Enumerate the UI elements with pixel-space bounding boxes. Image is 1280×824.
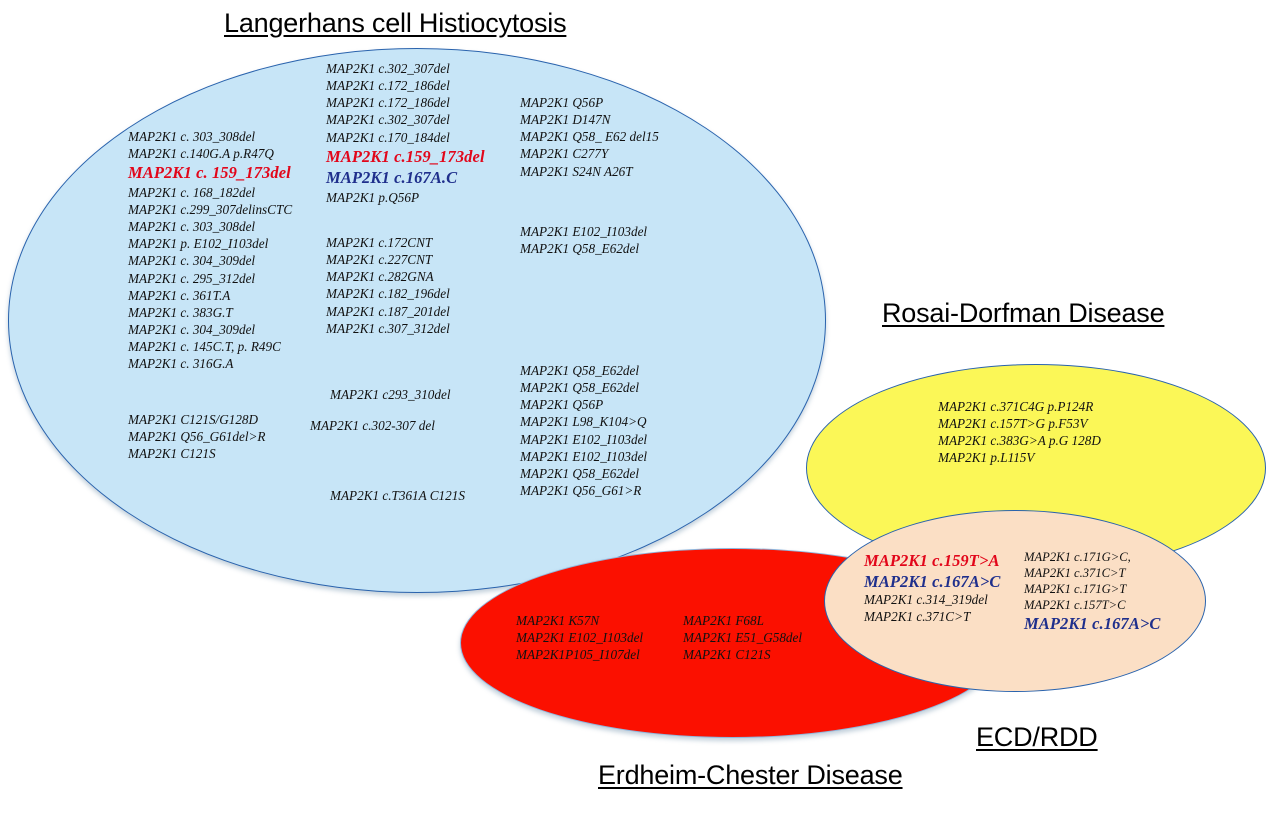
mutation-item: MAP2K1 K57N (516, 612, 643, 629)
mutation-item: MAP2K1 E102_I103del (520, 223, 647, 240)
mutation-item: MAP2K1 Q58_ E62 del15 (520, 128, 659, 145)
mutation-item: MAP2K1 p. E102_I103del (128, 235, 292, 252)
mutation-item: MAP2K1 Q58_E62del (520, 240, 647, 257)
mutation-item: MAP2K1 E102_I103del (520, 431, 647, 448)
mutation-item: MAP2K1 p.L115V (938, 449, 1101, 466)
mutation-item: MAP2K1 c.182_196del (326, 285, 450, 302)
mutation-item: MAP2K1 c.282GNA (326, 268, 450, 285)
mutation-item: MAP2K1 c. 295_312del (128, 270, 292, 287)
mutation-item: MAP2K1 c.157T>C (1024, 597, 1161, 613)
mutation-item: MAP2K1 C121S/G128D (128, 411, 265, 428)
mutation-item: MAP2K1 Q56_G61>R (520, 482, 647, 499)
mutation-item: MAP2K1 c.157T>G p.F53V (938, 415, 1101, 432)
mutation-item: MAP2K1 c.371C>T (1024, 565, 1161, 581)
mutation-item: MAP2K1 C121S (128, 445, 265, 462)
title-rosai-dorfman-disease: Rosai-Dorfman Disease (882, 298, 1164, 329)
mutation-item-highlight-blue: MAP2K1 c.167A.C (326, 167, 485, 188)
mutation-item: MAP2K1 c. 303_308del (128, 128, 292, 145)
mutation-item: MAP2K1 c.T361A C121S (330, 487, 465, 504)
mutation-item: MAP2K1 L98_K104>Q (520, 413, 647, 430)
mutation-item: MAP2K1 c.140G.A p.R47Q (128, 145, 292, 162)
mutation-item: MAP2K1 c. 168_182del (128, 184, 292, 201)
mutation-item: MAP2K1 E102_I103del (516, 629, 643, 646)
mutation-item: MAP2K1 S24N A26T (520, 163, 659, 180)
ecd-mutation-list-right: MAP2K1 F68L MAP2K1 E51_G58del MAP2K1 C12… (683, 612, 802, 663)
mutation-item: MAP2K1 E51_G58del (683, 629, 802, 646)
mutation-item: MAP2K1 c.172CNT (326, 234, 450, 251)
mutation-item: MAP2K1 c.170_184del (326, 129, 485, 146)
mutation-item: MAP2K1 Q58_E62del (520, 362, 647, 379)
mutation-item: MAP2K1 c.172_186del (326, 94, 485, 111)
lch-mutation-list-left-lower: MAP2K1 C121S/G128D MAP2K1 Q56_G61del>R M… (128, 411, 265, 462)
mutation-item: MAP2K1 c. 383G.T (128, 304, 292, 321)
mutation-item: MAP2K1 c. 304_309del (128, 321, 292, 338)
mutation-item: MAP2K1 c. 303_308del (128, 218, 292, 235)
rdd-mutation-list: MAP2K1 c.371C4G p.P124R MAP2K1 c.157T>G … (938, 398, 1101, 467)
overlap-mutation-list-right: MAP2K1 c.171G>C, MAP2K1 c.371C>T MAP2K1 … (1024, 549, 1161, 635)
title-erdheim-chester-disease: Erdheim-Chester Disease (598, 760, 903, 791)
mutation-item: MAP2K1 c.302_307del (326, 111, 485, 128)
lch-mutation-item-c302-307: MAP2K1 c.302-307 del (310, 417, 435, 434)
mutation-item: MAP2K1 c. 304_309del (128, 252, 292, 269)
mutation-item: MAP2K1 c.314_319del (864, 592, 1001, 609)
mutation-item: MAP2K1 c.299_307delinsCTC (128, 201, 292, 218)
mutation-item: MAP2K1 c. 316G.A (128, 355, 292, 372)
mutation-item: MAP2K1 c.307_312del (326, 320, 450, 337)
title-ecd-rdd: ECD/RDD (976, 722, 1098, 753)
lch-mutation-item-c293: MAP2K1 c293_310del (330, 386, 451, 403)
mutation-item: MAP2K1 Q58_E62del (520, 465, 647, 482)
mutation-item: MAP2K1 c.171G>T (1024, 581, 1161, 597)
mutation-item: MAP2K1 C121S (683, 646, 802, 663)
mutation-item: MAP2K1 c.172_186del (326, 77, 485, 94)
venn-diagram-canvas: Langerhans cell Histiocytosis Rosai-Dorf… (0, 0, 1280, 824)
overlap-mutation-list-left: MAP2K1 c.159T>A MAP2K1 c.167A>C MAP2K1 c… (864, 550, 1001, 626)
mutation-item: MAP2K1 c.371C4G p.P124R (938, 398, 1101, 415)
mutation-item: MAP2K1 Q58_E62del (520, 379, 647, 396)
mutation-item-highlight-red: MAP2K1 c.159T>A (864, 550, 1001, 571)
mutation-item: MAP2K1 E102_I103del (520, 448, 647, 465)
mutation-item-highlight-blue: MAP2K1 c.167A>C (1024, 613, 1161, 634)
mutation-item: MAP2K1 c.371C>T (864, 609, 1001, 626)
mutation-item: MAP2K1 Q56_G61del>R (128, 428, 265, 445)
mutation-item-highlight-blue: MAP2K1 c.167A>C (864, 571, 1001, 592)
mutation-item: MAP2K1 D147N (520, 111, 659, 128)
mutation-item: MAP2K1 c. 361T.A (128, 287, 292, 304)
mutation-item: MAP2K1 c293_310del (330, 386, 451, 403)
mutation-item: MAP2K1P105_I107del (516, 646, 643, 663)
lch-mutation-list-left: MAP2K1 c. 303_308del MAP2K1 c.140G.A p.R… (128, 128, 292, 372)
lch-mutation-item-t361a: MAP2K1 c.T361A C121S (330, 487, 465, 504)
mutation-item: MAP2K1 c.302-307 del (310, 417, 435, 434)
lch-mutation-list-right-mid: MAP2K1 E102_I103del MAP2K1 Q58_E62del (520, 223, 647, 257)
mutation-item: MAP2K1 c.171G>C, (1024, 549, 1161, 565)
mutation-item-highlight-red: MAP2K1 c.159_173del (326, 146, 485, 167)
mutation-item: MAP2K1 c.302_307del (326, 60, 485, 77)
mutation-item: MAP2K1 Q56P (520, 94, 659, 111)
mutation-item: MAP2K1 c.187_201del (326, 303, 450, 320)
mutation-item-highlight-red: MAP2K1 c. 159_173del (128, 162, 292, 183)
mutation-item: MAP2K1 C277Y (520, 145, 659, 162)
lch-mutation-list-right-low: MAP2K1 Q58_E62del MAP2K1 Q58_E62del MAP2… (520, 362, 647, 499)
lch-mutation-list-middle-top: MAP2K1 c.302_307del MAP2K1 c.172_186del … (326, 60, 485, 206)
title-langerhans-cell-histiocytosis: Langerhans cell Histiocytosis (224, 8, 566, 39)
mutation-item: MAP2K1 Q56P (520, 396, 647, 413)
mutation-item: MAP2K1 F68L (683, 612, 802, 629)
lch-mutation-list-middle-mid: MAP2K1 c.172CNT MAP2K1 c.227CNT MAP2K1 c… (326, 234, 450, 337)
mutation-item: MAP2K1 c.383G>A p.G 128D (938, 432, 1101, 449)
lch-mutation-list-right-top: MAP2K1 Q56P MAP2K1 D147N MAP2K1 Q58_ E62… (520, 94, 659, 180)
mutation-item: MAP2K1 p.Q56P (326, 189, 485, 206)
mutation-item: MAP2K1 c.227CNT (326, 251, 450, 268)
ecd-mutation-list-left: MAP2K1 K57N MAP2K1 E102_I103del MAP2K1P1… (516, 612, 643, 663)
mutation-item: MAP2K1 c. 145C.T, p. R49C (128, 338, 292, 355)
